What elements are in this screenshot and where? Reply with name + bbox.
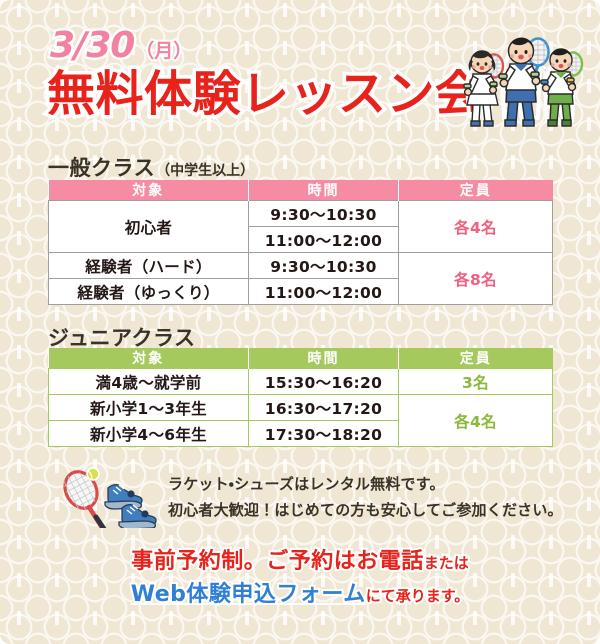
cell-time: 11:00〜12:00	[249, 227, 399, 253]
booking-tail-text-small: にて承ります。	[366, 587, 470, 605]
booking-note-line1: 事前予約制。ご予約はお電話または	[0, 545, 600, 578]
rental-note-line1: ラケット・シューズはレンタル無料です。	[168, 471, 563, 497]
cell-capacity: 各8名	[399, 253, 553, 305]
column-header-target: 対象	[49, 180, 249, 201]
event-date-weekday: （月）	[135, 42, 192, 61]
cell-target: 初心者	[49, 201, 249, 253]
general-class-heading-main: 一般クラス	[48, 152, 155, 182]
table-row: 初心者 9:30〜10:30 各4名	[49, 201, 553, 227]
general-class-heading-sub: （中学生以上）	[156, 160, 254, 180]
cell-time: 9:30〜10:30	[249, 253, 399, 279]
cell-target: 新小学4〜6年生	[49, 421, 249, 447]
event-date-number: 3/30	[50, 28, 134, 64]
booking-main-text: 事前予約制。ご予約はお電話	[131, 549, 424, 574]
junior-class-table: 対象 時間 定員 満4歳〜就学前 15:30〜16:20 3名 新小学1〜3年生…	[48, 348, 553, 447]
cell-capacity: 3名	[399, 369, 553, 395]
rental-note: ラケット・シューズはレンタル無料です。 初心者大歓迎！はじめての方も安心してご参…	[60, 466, 540, 528]
cell-capacity: 各4名	[399, 395, 553, 447]
booking-note: 事前予約制。ご予約はお電話または Web体験申込フォームにて承ります。	[0, 545, 600, 611]
cell-target: 経験者（ゆっくり）	[49, 279, 249, 305]
cell-capacity: 各4名	[399, 201, 553, 253]
cell-target: 満4歳〜就学前	[49, 369, 249, 395]
booking-or-text: または	[424, 554, 469, 572]
cell-time: 16:30〜17:20	[249, 395, 399, 421]
cell-time: 17:30〜18:20	[249, 421, 399, 447]
general-class-heading: 一般クラス （中学生以上）	[48, 152, 254, 182]
rental-note-line2: 初心者大歓迎！はじめての方も安心してご参加ください。	[168, 497, 563, 523]
page-title: 無料体験レッスン会	[47, 68, 484, 122]
column-header-time: 時間	[249, 348, 399, 369]
cell-time: 11:00〜12:00	[249, 279, 399, 305]
lesson-flyer: 3/30 （月） 無料体験レッスン会	[0, 0, 600, 644]
cell-time: 9:30〜10:30	[249, 201, 399, 227]
tennis-racket-icon	[60, 466, 104, 528]
general-class-table: 対象 時間 定員 初心者 9:30〜10:30 各4名 11:00〜12:00 …	[48, 180, 553, 305]
header: 3/30 （月） 無料体験レッスン会	[0, 0, 600, 148]
event-date: 3/30 （月）	[50, 28, 192, 64]
table-header-row: 対象 時間 定員	[49, 348, 553, 369]
table-row: 経験者（ハード） 9:30〜10:30 各8名	[49, 253, 553, 279]
table-header-row: 対象 時間 定員	[49, 180, 553, 201]
web-application-form-link[interactable]: Web体験申込フォーム	[131, 582, 366, 607]
cell-target: 新小学1〜3年生	[49, 395, 249, 421]
column-header-capacity: 定員	[399, 180, 553, 201]
cell-time: 15:30〜16:20	[249, 369, 399, 395]
rental-note-text: ラケット・シューズはレンタル無料です。 初心者大歓迎！はじめての方も安心してご参…	[168, 471, 563, 524]
three-tennis-players-illustration	[452, 26, 588, 138]
tennis-shoes-icon	[105, 485, 156, 528]
table-row: 満4歳〜就学前 15:30〜16:20 3名	[49, 369, 553, 395]
column-header-capacity: 定員	[399, 348, 553, 369]
cell-target: 経験者（ハード）	[49, 253, 249, 279]
table-row: 新小学1〜3年生 16:30〜17:20 各4名	[49, 395, 553, 421]
column-header-target: 対象	[49, 348, 249, 369]
rental-gear-icons	[60, 466, 164, 528]
booking-note-line2: Web体験申込フォームにて承ります。	[0, 578, 600, 611]
column-header-time: 時間	[249, 180, 399, 201]
